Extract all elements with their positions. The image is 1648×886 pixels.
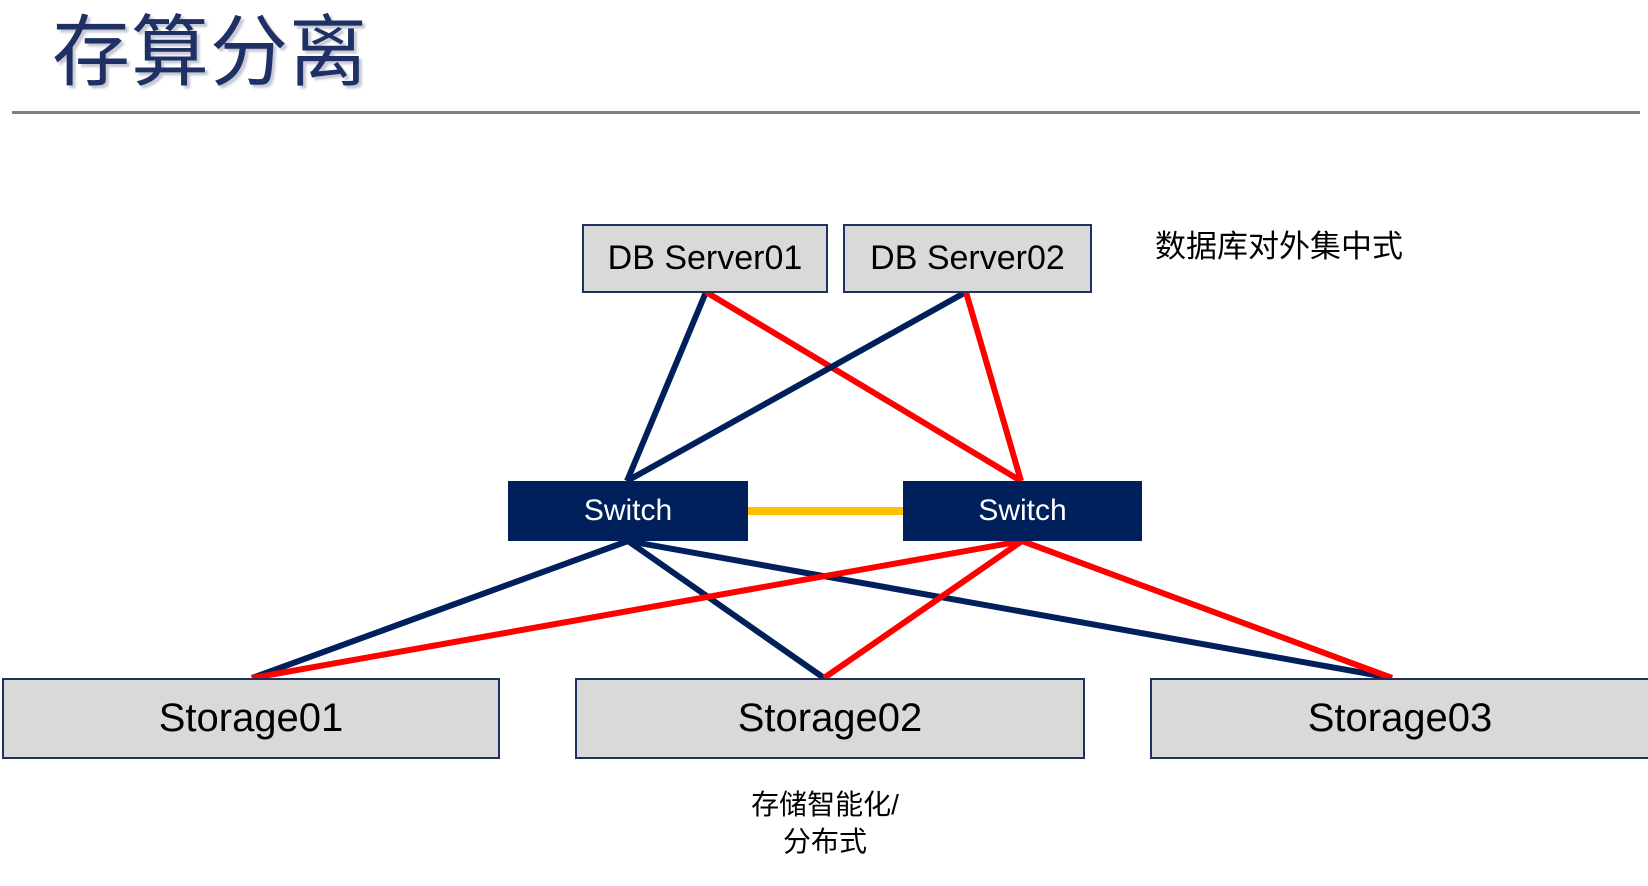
node-switch-right[interactable]: Switch xyxy=(903,481,1142,541)
node-storage03-label: Storage03 xyxy=(1308,696,1493,741)
node-storage02-label: Storage02 xyxy=(738,696,923,741)
annotation-database-tier: 数据库对外集中式 xyxy=(1155,226,1403,268)
node-storage01[interactable]: Storage01 xyxy=(2,678,500,759)
link-sw1-st3 xyxy=(628,541,1392,678)
link-sw2-st1 xyxy=(252,541,1022,678)
link-db1-sw1 xyxy=(627,292,706,481)
node-storage02[interactable]: Storage02 xyxy=(575,678,1085,759)
annotation-storage-tier: 存储智能化/ 分布式 xyxy=(620,786,1030,860)
node-db-server02[interactable]: DB Server02 xyxy=(843,224,1092,293)
node-db-server02-label: DB Server02 xyxy=(870,239,1065,278)
link-sw2-st3 xyxy=(1022,541,1392,678)
link-db2-sw1 xyxy=(627,292,966,481)
node-switch-left-label: Switch xyxy=(584,494,672,528)
node-storage03[interactable]: Storage03 xyxy=(1150,678,1648,759)
node-switch-left[interactable]: Switch xyxy=(508,481,748,541)
node-db-server01-label: DB Server01 xyxy=(608,239,803,278)
link-sw1-st1 xyxy=(252,541,628,678)
node-storage01-label: Storage01 xyxy=(159,696,344,741)
node-db-server01[interactable]: DB Server01 xyxy=(582,224,828,293)
annotation-storage-tier-line1: 存储智能化/ xyxy=(620,786,1030,823)
annotation-storage-tier-line2: 分布式 xyxy=(620,823,1030,860)
slide-canvas: 存算分离 DB Server01 DB Server02 Switch Swit… xyxy=(0,0,1648,886)
node-switch-right-label: Switch xyxy=(978,494,1066,528)
